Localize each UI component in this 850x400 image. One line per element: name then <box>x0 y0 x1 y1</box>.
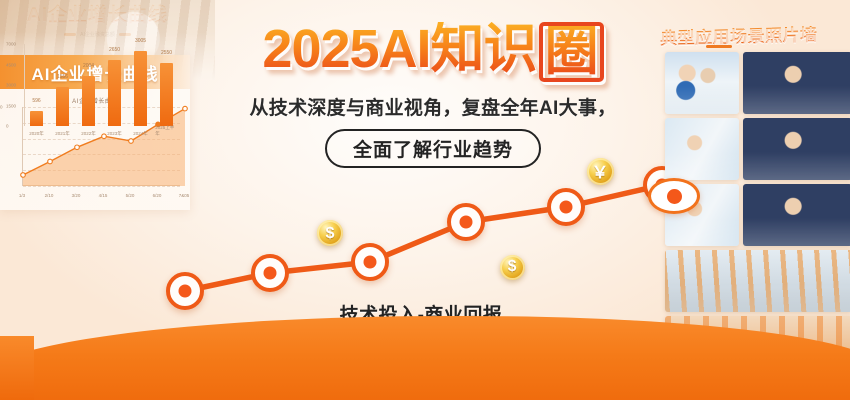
photo-engineer-desk <box>743 52 850 114</box>
line-node-dot-icon <box>460 216 473 229</box>
area-point-3 <box>75 145 80 150</box>
photo-medical-team <box>665 52 739 114</box>
page-title: 2025AI知识圈 <box>262 22 603 82</box>
decorative-node-badge-icon <box>648 178 700 214</box>
x-tick-label: 3/20 <box>72 193 81 198</box>
photo-factory-line <box>665 250 850 312</box>
photo-office-monitors <box>743 118 850 180</box>
bar-category-label: 2024年 <box>133 131 148 137</box>
line-node-2 <box>251 254 289 292</box>
bar-y-tick-label: 4500 <box>6 62 16 67</box>
bar-value-label: 2550 <box>161 50 172 56</box>
x-tick-label: 4/15 <box>99 193 108 198</box>
line-node-1 <box>166 272 204 310</box>
line-node-dot-icon <box>364 256 377 269</box>
bar-category-label: 2023年 <box>107 131 122 137</box>
page-title-text: 2025AI知识 <box>262 19 536 79</box>
bar-column-2 <box>56 87 69 126</box>
photo-wall-title-underline <box>706 45 732 48</box>
line-node-dot-icon <box>264 267 277 280</box>
bar-category-label: 2025上半年 <box>155 125 178 137</box>
coin-dollar-small-icon: $ <box>317 220 343 246</box>
photo-lab-tech <box>665 118 739 180</box>
photo-wall-title: 典型应用场景照片墙 <box>660 20 850 50</box>
bar-category-label: 2021年 <box>55 131 70 137</box>
bar-column-1 <box>30 111 43 126</box>
y-tick-label: 100 <box>0 105 3 110</box>
bar-value-label: 1556 <box>57 74 68 80</box>
bar-y-tick-label: 1500 <box>6 103 16 108</box>
line-node-5 <box>547 188 585 226</box>
area-point-2 <box>48 159 53 164</box>
line-node-3 <box>351 243 389 281</box>
card-bottom-bar-chart: 700045003000150005962020年15562021年200420… <box>6 40 189 140</box>
x-tick-label: 5/20 <box>126 193 135 198</box>
line-node-4 <box>447 203 485 241</box>
bar-value-label: 2004 <box>83 63 94 69</box>
x-tick-label: 2/10 <box>45 193 54 198</box>
bar-column-3 <box>82 76 95 126</box>
bar-category-label: 2020年 <box>29 131 44 137</box>
bar-value-label: 596 <box>32 98 40 104</box>
bar-column-4 <box>108 60 121 126</box>
headline-block: 2025AI知识圈 从技术深度与商业视角，复盘全年AI大事， 全面了解行业趋势 <box>198 22 668 168</box>
bar-value-label: 3005 <box>135 38 146 44</box>
bottom-left-orange-strip <box>0 336 34 400</box>
coin-yen-mid-icon: ￥ <box>587 158 614 185</box>
bar-y-tick-label: 7000 <box>6 42 16 47</box>
bar-y-tick-label: 3000 <box>6 83 16 88</box>
bottom-wave-primary <box>0 316 850 400</box>
promo-banner: AI企业增长曲线 AI企业增长曲线 1008060402001/32/103/2… <box>0 0 850 400</box>
x-tick-label: 1/3 <box>19 193 25 198</box>
bar-column-6 <box>160 63 173 126</box>
bar-value-label: 2650 <box>109 47 120 53</box>
page-title-boxed-char: 圈 <box>539 22 604 82</box>
line-node-dot-icon <box>560 201 573 214</box>
coin-dollar-mid-icon: $ <box>500 255 525 280</box>
photo-laptop-worker <box>743 184 850 246</box>
bar-column-5 <box>134 51 147 126</box>
bar-y-tick-label: 0 <box>6 124 9 129</box>
line-node-dot-icon <box>179 285 192 298</box>
area-point-1 <box>21 173 26 178</box>
bar-category-label: 2022年 <box>81 131 96 137</box>
headline-subtitle: 从技术深度与商业视角，复盘全年AI大事， <box>198 93 668 120</box>
